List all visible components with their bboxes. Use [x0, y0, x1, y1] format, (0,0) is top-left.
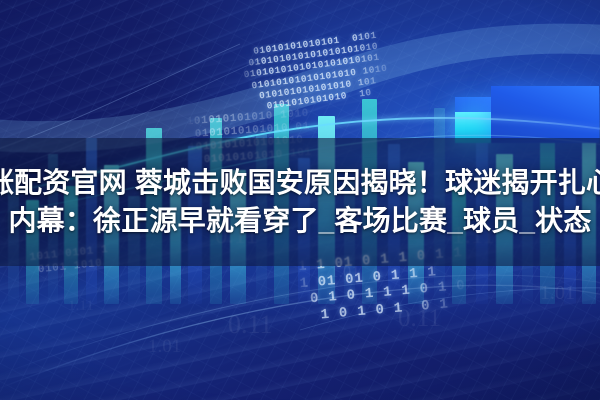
headline-line-2: 内幕：徐正源早就看穿了_客场比赛_球员_状态 [8, 204, 591, 238]
news-banner: 01010101010101 0101 01010101010101010101… [0, 0, 600, 400]
headline-block: 涨配资官网 蓉城击败国安原因揭晓！球迷揭开扎心 内幕：徐正源早就看穿了_客场比赛… [0, 138, 600, 266]
headline-line-1: 涨配资官网 蓉城击败国安原因揭晓！球迷揭开扎心 [0, 166, 600, 200]
